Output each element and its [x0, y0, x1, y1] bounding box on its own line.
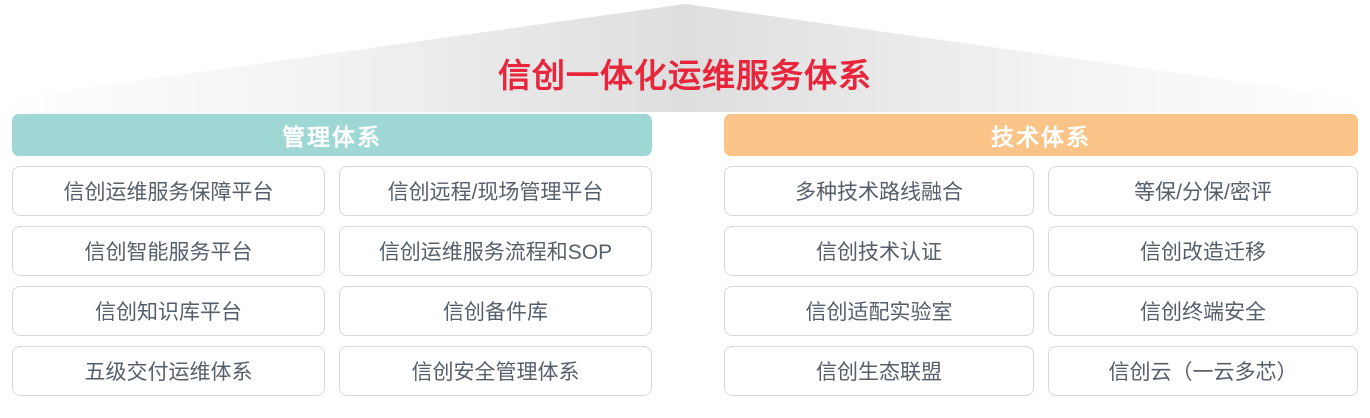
group-technology: 技术体系 多种技术路线融合 等保/分保/密评 信创技术认证 信创改造迁移 信创适…: [724, 114, 1358, 396]
list-item[interactable]: 五级交付运维体系: [12, 346, 325, 396]
list-item[interactable]: 信创适配实验室: [724, 286, 1034, 336]
group-grid-management: 信创运维服务保障平台 信创远程/现场管理平台 信创智能服务平台 信创运维服务流程…: [12, 166, 652, 396]
group-management: 管理体系 信创运维服务保障平台 信创远程/现场管理平台 信创智能服务平台 信创运…: [12, 114, 652, 396]
list-item[interactable]: 等保/分保/密评: [1048, 166, 1358, 216]
list-item[interactable]: 信创远程/现场管理平台: [339, 166, 652, 216]
list-item[interactable]: 信创改造迁移: [1048, 226, 1358, 276]
list-item[interactable]: 信创终端安全: [1048, 286, 1358, 336]
list-item[interactable]: 多种技术路线融合: [724, 166, 1034, 216]
list-item[interactable]: 信创安全管理体系: [339, 346, 652, 396]
list-item[interactable]: 信创运维服务保障平台: [12, 166, 325, 216]
group-header-management: 管理体系: [12, 114, 652, 156]
list-item[interactable]: 信创智能服务平台: [12, 226, 325, 276]
list-item[interactable]: 信创技术认证: [724, 226, 1034, 276]
list-item[interactable]: 信创云（一云多芯）: [1048, 346, 1358, 396]
list-item[interactable]: 信创备件库: [339, 286, 652, 336]
group-grid-technology: 多种技术路线融合 等保/分保/密评 信创技术认证 信创改造迁移 信创适配实验室 …: [724, 166, 1358, 396]
list-item[interactable]: 信创运维服务流程和SOP: [339, 226, 652, 276]
group-header-technology: 技术体系: [724, 114, 1358, 156]
page-title: 信创一体化运维服务体系: [0, 56, 1370, 96]
list-item[interactable]: 信创生态联盟: [724, 346, 1034, 396]
list-item[interactable]: 信创知识库平台: [12, 286, 325, 336]
